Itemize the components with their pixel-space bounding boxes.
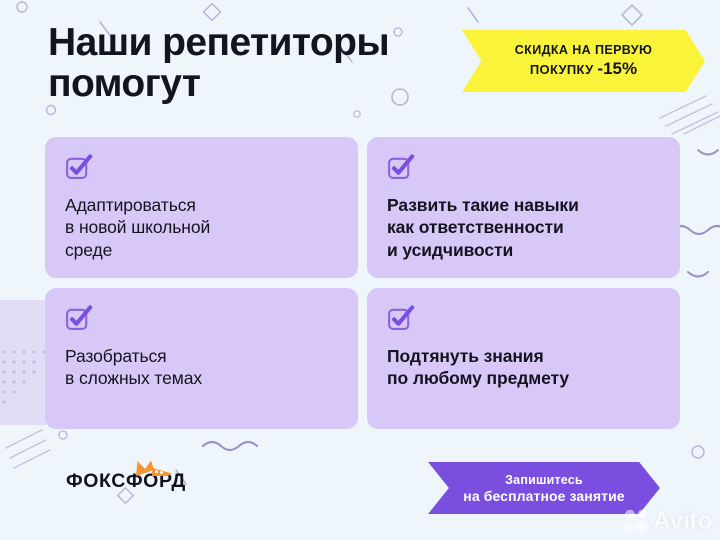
hatch-lines-bottom-left (6, 430, 50, 468)
cta-banner-line1: Запишитесь (505, 473, 583, 487)
benefit-card: Адаптироваться в новой школьной среде (45, 137, 358, 278)
cta-banner-line2: на бесплатное занятие (463, 488, 624, 504)
benefit-card-text: Разобраться в сложных темах (65, 345, 338, 390)
squiggle-line-icon (698, 150, 718, 155)
diamond-outline-icon (622, 5, 642, 25)
circle-outline-icon (47, 106, 56, 115)
fox-head-icon (134, 459, 174, 477)
checkbox-checked-icon (387, 305, 415, 331)
circle-outline-icon (692, 446, 704, 458)
circle-outline-icon (59, 431, 67, 439)
page-title: Наши репетиторы помогут (48, 22, 478, 105)
checkbox-checked-icon (65, 305, 93, 331)
benefit-card: Разобраться в сложных темах (45, 288, 358, 429)
hatch-lines-right (684, 116, 720, 134)
cta-banner[interactable]: Запишитесь на бесплатное занятие (428, 462, 660, 514)
hatch-lines-top-right (660, 96, 718, 134)
discount-badge: СКИДКА НА ПЕРВУЮ ПОКУПКУ -15% (462, 30, 705, 92)
circle-outline-icon (17, 2, 27, 12)
avito-dots-icon (623, 508, 649, 534)
discount-badge-line2: ПОКУПКУ -15% (530, 59, 637, 79)
dot-grid-pattern (2, 350, 45, 403)
benefit-card-grid: Адаптироваться в новой школьной среде Ра… (45, 137, 680, 429)
benefit-card: Развить такие навыки как ответственности… (367, 137, 680, 278)
discount-badge-value: -15% (597, 59, 637, 78)
left-lavender-band (0, 300, 46, 425)
diamond-outline-icon (204, 4, 221, 21)
benefit-card-text: Подтянуть знания по любому предмету (387, 345, 660, 390)
discount-badge-line1: СКИДКА НА ПЕРВУЮ (515, 43, 652, 57)
checkbox-checked-icon (65, 154, 93, 180)
poster-canvas: Наши репетиторы помогут СКИДКА НА ПЕРВУЮ… (0, 0, 720, 540)
checkbox-checked-icon (387, 154, 415, 180)
benefit-card-text: Развить такие навыки как ответственности… (387, 194, 660, 261)
avito-watermark-text: Avito (653, 509, 712, 534)
discount-badge-line2-prefix: ПОКУПКУ (530, 62, 598, 77)
squiggle-line-icon (203, 442, 257, 450)
avito-watermark: Avito (623, 508, 712, 534)
squiggle-line-icon (688, 272, 708, 277)
brand-logo: ФОКСФОРД (66, 472, 186, 498)
benefit-card: Подтянуть знания по любому предмету (367, 288, 680, 429)
benefit-card-text: Адаптироваться в новой школьной среде (65, 194, 338, 261)
circle-outline-icon (354, 111, 360, 117)
